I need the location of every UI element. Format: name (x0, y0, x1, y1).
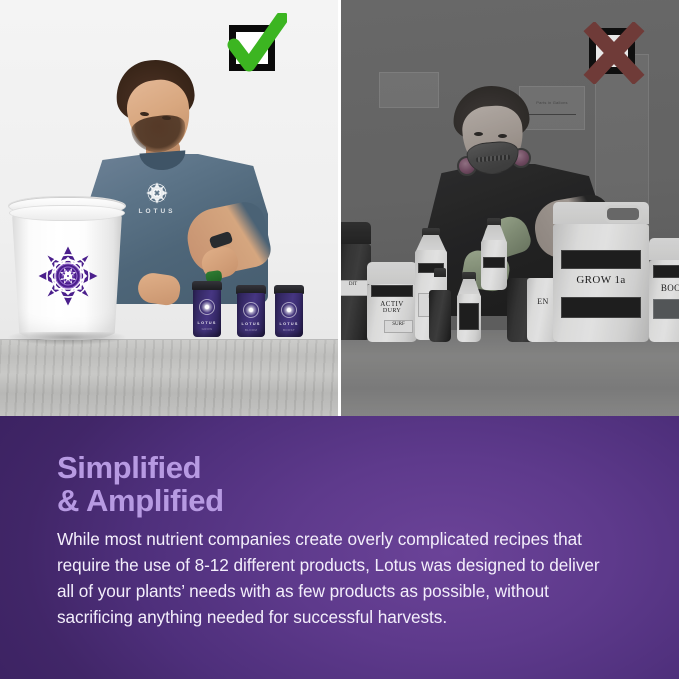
bottle-label-band (459, 303, 479, 330)
bottle-label-band-top (561, 250, 642, 269)
lotus-jar-1: LOTUS GROW (192, 281, 222, 337)
bottle-boo: BOO (649, 238, 679, 342)
bottle-label-band-bottom (561, 297, 642, 318)
bottle-body: ACTIV DURY SURF (367, 284, 417, 342)
bottle-top (367, 262, 417, 284)
lab-floor (341, 330, 679, 416)
jar-lotus-icon (281, 302, 297, 318)
jar-variant: BOOST (275, 328, 303, 332)
right-eye (498, 134, 507, 138)
left-eye (474, 132, 483, 136)
tshirt-lotus-mandala-icon (142, 178, 172, 208)
bottle-body: GROW 1a (553, 224, 649, 342)
bottle-label-band-2 (653, 299, 679, 319)
bottle-cap (434, 268, 446, 277)
banner-root: LOTUS LOTUS GROW (0, 0, 679, 679)
bottle-label-band (483, 257, 505, 268)
bottle-handwritten-label: BOO (651, 283, 679, 293)
bottle-top (649, 238, 679, 260)
headline: Simplified & Amplified (57, 452, 477, 517)
jar-body: LOTUS BOOST (275, 293, 303, 337)
jar-lotus-icon (243, 302, 259, 318)
bottle-handwritten-label: GROW 1a (557, 274, 645, 286)
comparison-photo-band: LOTUS LOTUS GROW (0, 0, 679, 416)
marketing-text-band: Simplified & Amplified While most nutrie… (0, 416, 679, 679)
bottle-handwritten-sublabel: DURY (369, 308, 415, 314)
x-mark-icon (583, 22, 645, 84)
bottle-label-band (653, 265, 679, 278)
body-paragraph: While most nutrient companies create ove… (57, 526, 617, 631)
check-mark-badge (223, 19, 285, 81)
check-mark-icon (225, 13, 287, 75)
bucket-lotus-mandala-icon (36, 244, 100, 308)
bucket-shadow (8, 332, 126, 345)
jar-body: LOTUS BLOOM (237, 293, 265, 337)
bucket-rim-inner (9, 205, 125, 221)
lotus-jar-3: LOTUS BOOST (274, 285, 304, 337)
bottle-activ: ACTIV DURY SURF (367, 262, 417, 342)
bottle-body (481, 240, 507, 290)
bottle-body (429, 290, 451, 342)
lotus-bucket (6, 196, 128, 344)
bottle-grow-1a: GROW 1a (553, 202, 649, 342)
good-practice-panel: LOTUS LOTUS GROW (0, 0, 338, 416)
jar-brand: LOTUS (275, 321, 303, 326)
bad-practice-panel: Parts in Gallons (341, 0, 679, 416)
handheld-bottle (481, 218, 507, 290)
jar-brand: LOTUS (193, 320, 221, 325)
jar-lotus-icon (199, 299, 215, 315)
x-mark-badge (583, 22, 645, 84)
bottle-body: BOO (649, 260, 679, 342)
bottle-body (457, 294, 481, 342)
bottle-dark-small (429, 268, 451, 342)
bottle-label: DIT (341, 280, 368, 295)
jar-brand: LOTUS (237, 321, 265, 326)
bottle-narrow (457, 272, 481, 342)
jar-variant: GROW (193, 327, 221, 331)
bottle-handwritten-label: ACTIV (369, 300, 415, 308)
bottle-secondary-label: SURF (384, 320, 413, 333)
jar-lid (192, 281, 222, 290)
lotus-jar-2: LOTUS BLOOM (236, 285, 266, 337)
tshirt-wordmark: LOTUS (124, 208, 190, 215)
jug-handle (607, 208, 640, 220)
jar-body: LOTUS GROW (193, 289, 221, 337)
bottle-label-band (371, 285, 413, 297)
bottle-top (341, 222, 371, 244)
wood-floor (0, 340, 338, 416)
jar-variant: BLOOM (237, 328, 265, 332)
